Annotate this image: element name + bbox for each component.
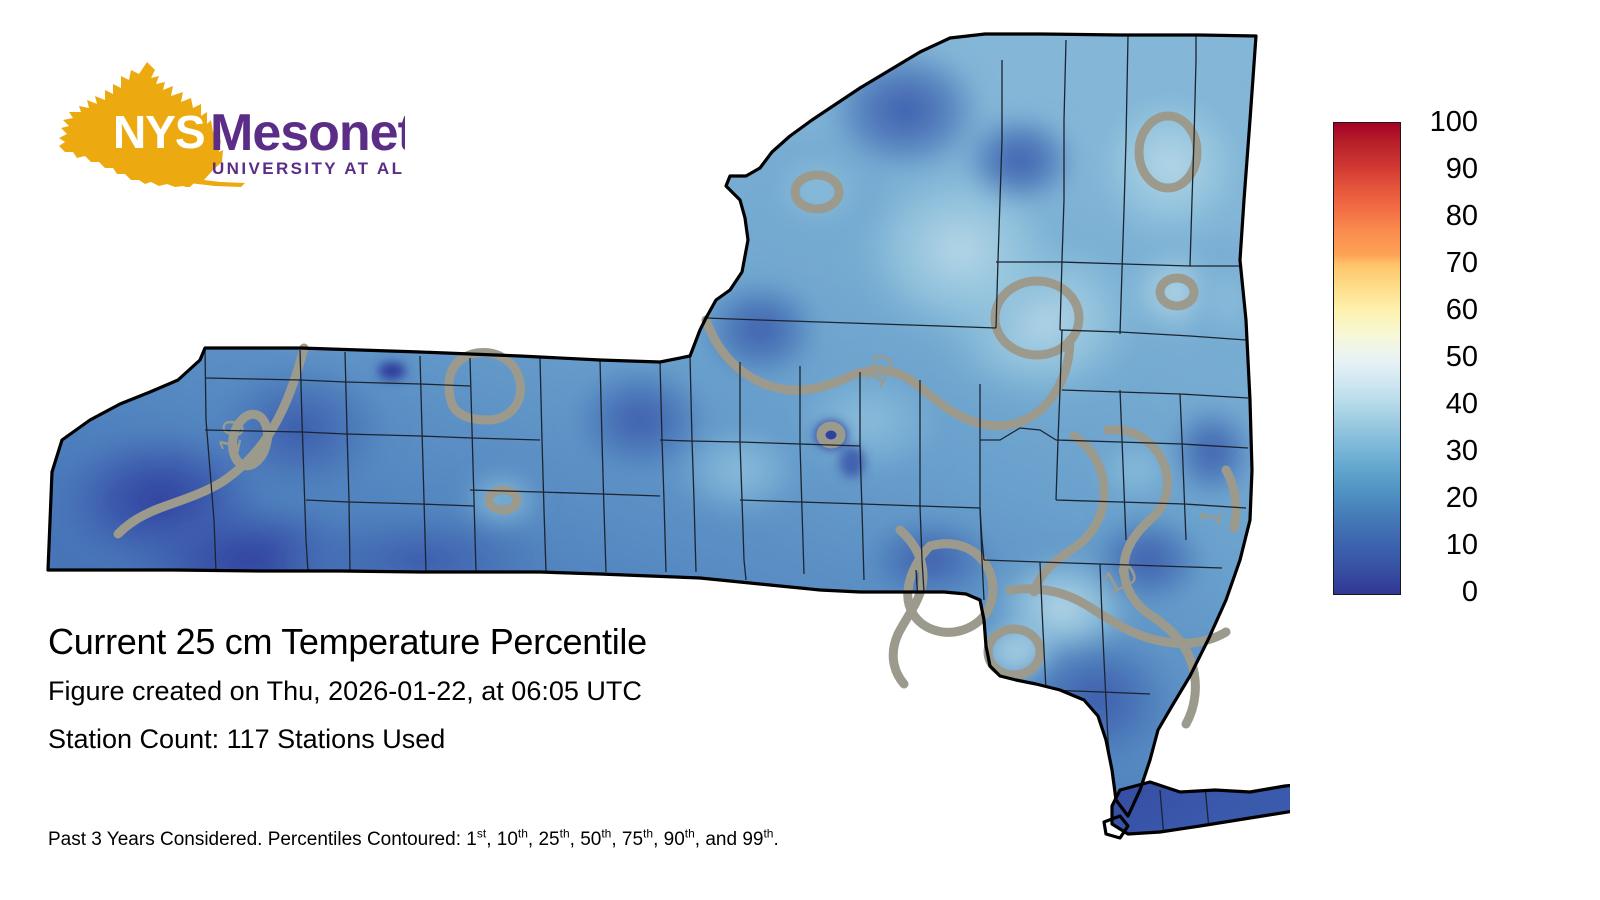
footnote-percentile-value: 50 <box>580 829 601 850</box>
colorbar-tick-80: 80 <box>1408 202 1478 231</box>
footnote-ordinal-suffix: th <box>643 827 653 841</box>
created-timestamp: Figure created on Thu, 2026-01-22, at 06… <box>48 670 1068 712</box>
colorbar-tick-90: 90 <box>1408 155 1478 184</box>
contour-footnote: Past 3 Years Considered. Percentiles Con… <box>48 828 779 852</box>
figure-canvas: NYS Mesonet UNIVERSITY AT ALBANY <box>0 0 1600 900</box>
footnote-ordinal-suffix: th <box>518 827 528 841</box>
footnote-percentile-list: 1st, 10th, 25th, 50th, 75th, 90th, and 9… <box>466 829 773 850</box>
colorbar-tick-60: 60 <box>1408 296 1478 325</box>
colorbar-tick-40: 40 <box>1408 390 1478 419</box>
map-svg: 10 10 10 1 <box>0 0 1290 900</box>
colorbar-tick-70: 70 <box>1408 249 1478 278</box>
colorbar-tick-labels: 100 90 80 70 60 50 40 30 20 10 0 <box>1408 98 1478 618</box>
percentile-map: 10 10 10 1 <box>0 0 1290 900</box>
footnote-ordinal-suffix: th <box>685 827 695 841</box>
colorbar-tick-100: 100 <box>1408 108 1478 137</box>
colorbar-tick-50: 50 <box>1408 343 1478 372</box>
footnote-ordinal-suffix: st <box>477 827 486 841</box>
colorbar-tick-20: 20 <box>1408 484 1478 513</box>
station-count: Station Count: 117 Stations Used <box>48 718 1068 760</box>
percentile-colorbar <box>1333 122 1401 595</box>
footnote-percentile-value: 10 <box>497 829 518 850</box>
caption-block: Current 25 cm Temperature Percentile Fig… <box>48 620 1068 760</box>
page-title: Current 25 cm Temperature Percentile <box>48 620 1068 664</box>
mainland-percentile-field <box>0 0 1290 900</box>
footnote-percentile-value: 90 <box>664 829 685 850</box>
footnote-percentile-value: 1 <box>466 829 477 850</box>
colorbar-tick-30: 30 <box>1408 437 1478 466</box>
footnote-ordinal-suffix: th <box>601 827 611 841</box>
contour-label-10-west: 10 <box>213 417 252 457</box>
colorbar-tick-0: 0 <box>1408 578 1478 607</box>
footnote-percentile-value: 25 <box>538 829 559 850</box>
footnote-ordinal-suffix: th <box>560 827 570 841</box>
footnote-percentile-value: 75 <box>622 829 643 850</box>
colorbar-tick-10: 10 <box>1408 531 1478 560</box>
footnote-percentile-value: 99 <box>742 829 763 850</box>
footnote-prefix: Past 3 Years Considered. Percentiles Con… <box>48 829 466 850</box>
footnote-suffix: . <box>773 829 778 850</box>
footnote-ordinal-suffix: th <box>763 827 773 841</box>
